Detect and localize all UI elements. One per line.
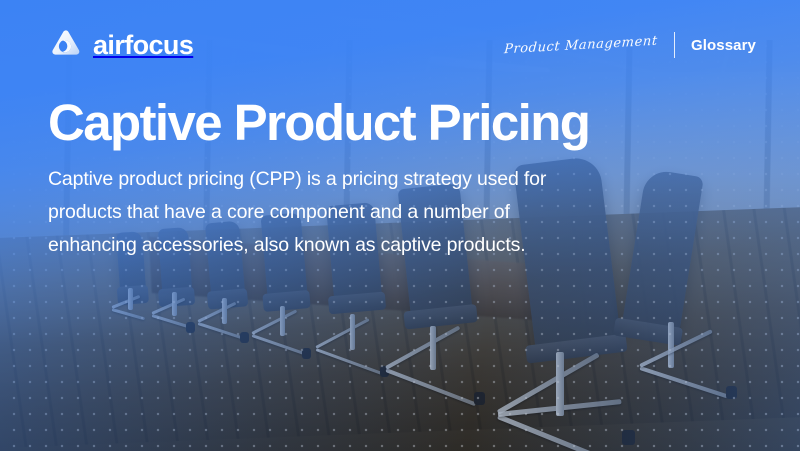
category-label: Product Management	[504, 33, 659, 57]
vertical-divider	[674, 32, 675, 58]
page-title: Captive Product Pricing	[48, 96, 589, 150]
airfocus-logo-icon	[48, 28, 82, 62]
top-right-group: Product Management Glossary	[504, 32, 756, 58]
hero-content: airfocus Product Management Glossary Cap…	[0, 0, 800, 451]
section-label: Glossary	[691, 37, 756, 54]
brand-logo-link[interactable]: airfocus	[48, 28, 193, 62]
glossary-hero-banner: airfocus Product Management Glossary Cap…	[0, 0, 800, 451]
brand-name: airfocus	[93, 32, 193, 59]
top-bar: airfocus Product Management Glossary	[48, 26, 756, 64]
page-description: Captive product pricing (CPP) is a prici…	[48, 163, 548, 262]
